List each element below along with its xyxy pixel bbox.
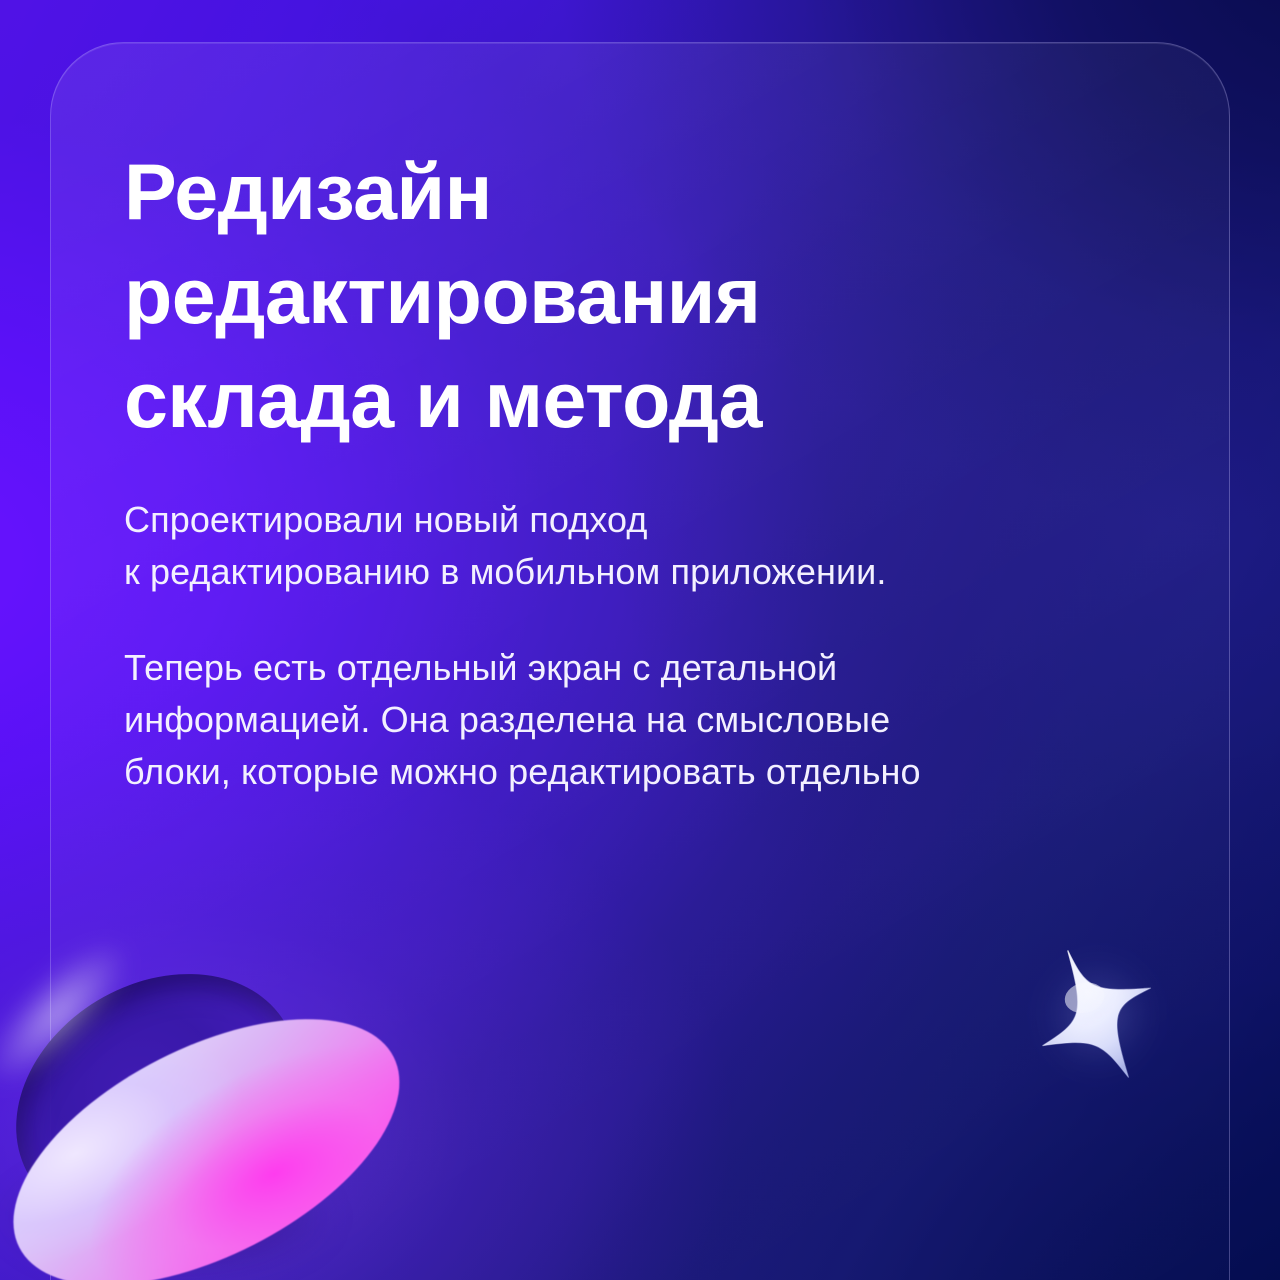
page-title: Редизайн редактирования склада и метода — [124, 140, 1144, 452]
body-paragraph-2: Теперь есть отдельный экран с детальной … — [124, 642, 1144, 798]
torus-specular-highlight — [0, 893, 178, 1135]
torus-shape-icon — [0, 802, 474, 1280]
torus-inner-hole — [0, 924, 344, 1275]
torus-outer-ring — [0, 802, 474, 1280]
sparkle-glow — [1004, 918, 1193, 1112]
torus-front-limb — [0, 964, 441, 1280]
slide-content: Редизайн редактирования склада и метода … — [124, 140, 1144, 798]
sparkle-star-icon — [1033, 942, 1164, 1088]
sparkle-decoration — [1033, 942, 1164, 1088]
body-paragraph-1: Спроектировали новый подход к редактиров… — [124, 494, 1144, 598]
torus-drop-shadow — [0, 1142, 382, 1280]
torus-decoration — [0, 892, 482, 1280]
slide-canvas: Редизайн редактирования склада и метода … — [0, 0, 1280, 1280]
body-text-block: Спроектировали новый подход к редактиров… — [124, 494, 1144, 798]
